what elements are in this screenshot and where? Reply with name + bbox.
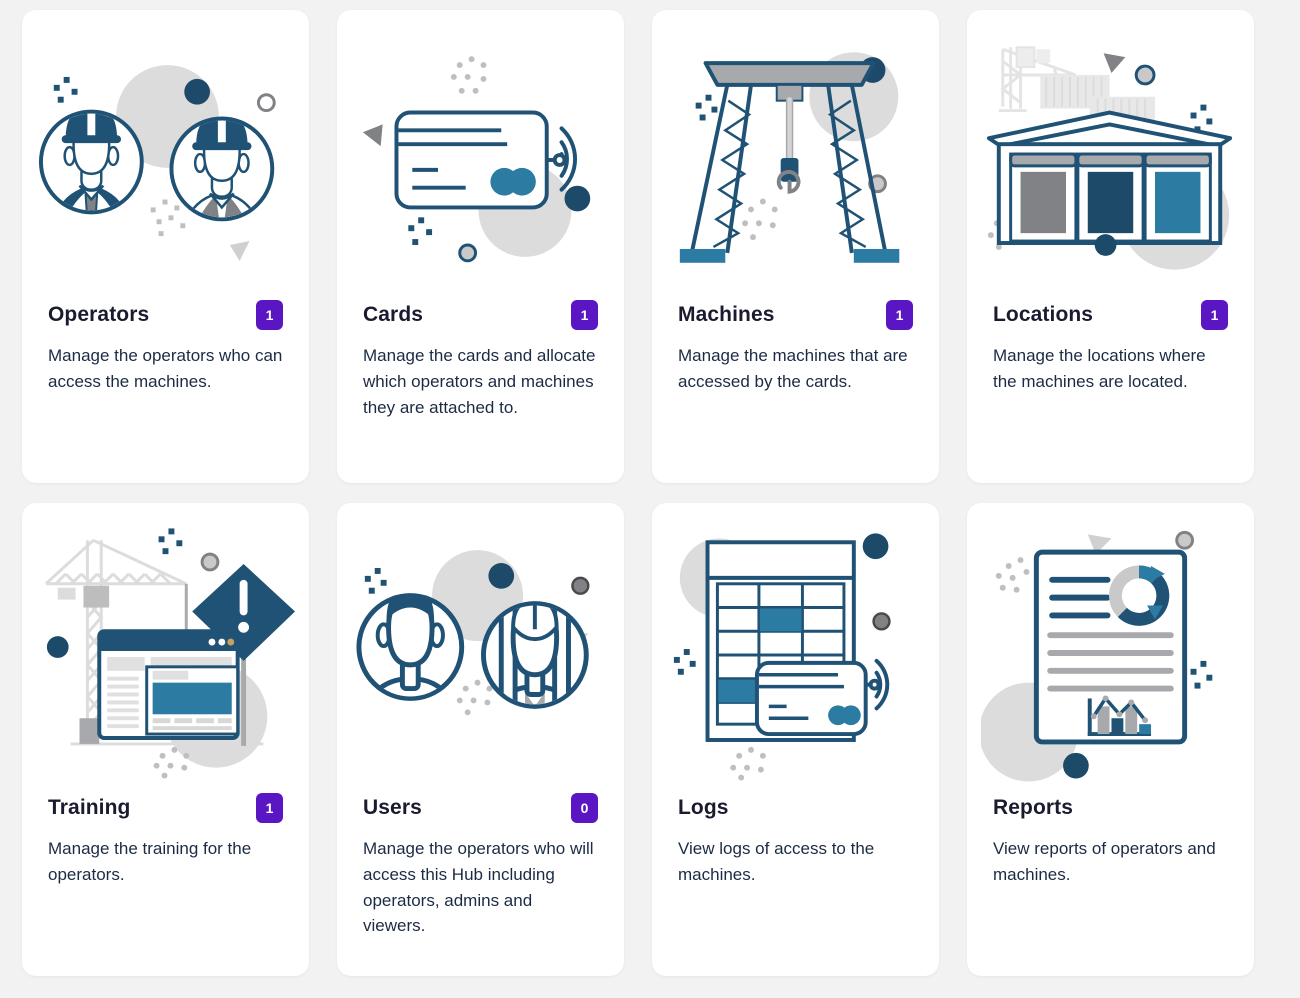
tile-badge: 0 xyxy=(571,793,598,823)
tile-badge: 1 xyxy=(256,793,283,823)
tile-title: Operators xyxy=(48,303,149,327)
tile-users[interactable]: Users 0 Manage the operators who will ac… xyxy=(337,503,624,976)
tile-body-operators: Operators 1 Manage the operators who can… xyxy=(22,300,309,483)
tile-head-training: Training 1 xyxy=(48,793,283,823)
tile-reports[interactable]: Reports View reports of operators and ma… xyxy=(967,503,1254,976)
tile-head-cards: Cards 1 xyxy=(363,300,598,330)
tile-description: View logs of access to the machines. xyxy=(678,836,913,888)
tile-title: Training xyxy=(48,796,130,820)
tile-description: Manage the operators who can access the … xyxy=(48,343,283,395)
illustration-cards xyxy=(337,10,624,300)
illustration-operators xyxy=(22,10,309,300)
tile-badge: 1 xyxy=(1201,300,1228,330)
tile-body-training: Training 1 Manage the training for the o… xyxy=(22,793,309,976)
tile-title: Logs xyxy=(678,796,729,820)
tile-locations[interactable]: Locations 1 Manage the locations where t… xyxy=(967,10,1254,483)
tile-cards[interactable]: Cards 1 Manage the cards and allocate wh… xyxy=(337,10,624,483)
tile-title: Machines xyxy=(678,303,775,327)
illustration-training xyxy=(22,503,309,793)
tile-description: Manage the locations where the machines … xyxy=(993,343,1228,395)
tile-body-users: Users 0 Manage the operators who will ac… xyxy=(337,793,624,976)
illustration-locations xyxy=(967,10,1254,300)
tile-body-logs: Logs View logs of access to the machines… xyxy=(652,793,939,976)
illustration-reports xyxy=(967,503,1254,793)
tile-head-operators: Operators 1 xyxy=(48,300,283,330)
tile-description: Manage the training for the operators. xyxy=(48,836,283,888)
tile-body-reports: Reports View reports of operators and ma… xyxy=(967,793,1254,976)
tile-description: Manage the machines that are accessed by… xyxy=(678,343,913,395)
tile-description: View reports of operators and machines. xyxy=(993,836,1228,888)
tile-body-locations: Locations 1 Manage the locations where t… xyxy=(967,300,1254,483)
tile-badge: 1 xyxy=(256,300,283,330)
tile-body-cards: Cards 1 Manage the cards and allocate wh… xyxy=(337,300,624,483)
illustration-users xyxy=(337,503,624,793)
tile-training[interactable]: Training 1 Manage the training for the o… xyxy=(22,503,309,976)
tile-title: Reports xyxy=(993,796,1073,820)
tile-description: Manage the cards and allocate which oper… xyxy=(363,343,598,420)
tile-badge: 1 xyxy=(886,300,913,330)
tile-badge: 1 xyxy=(571,300,598,330)
tile-title: Cards xyxy=(363,303,423,327)
tile-head-locations: Locations 1 xyxy=(993,300,1228,330)
tile-title: Locations xyxy=(993,303,1093,327)
tile-head-reports: Reports xyxy=(993,793,1228,823)
tile-operators[interactable]: Operators 1 Manage the operators who can… xyxy=(22,10,309,483)
tile-head-logs: Logs xyxy=(678,793,913,823)
tile-description: Manage the operators who will access thi… xyxy=(363,836,598,939)
dashboard-tile-grid: Operators 1 Manage the operators who can… xyxy=(0,0,1300,976)
illustration-machines xyxy=(652,10,939,300)
illustration-logs xyxy=(652,503,939,793)
tile-machines[interactable]: Machines 1 Manage the machines that are … xyxy=(652,10,939,483)
tile-title: Users xyxy=(363,796,422,820)
tile-body-machines: Machines 1 Manage the machines that are … xyxy=(652,300,939,483)
tile-head-users: Users 0 xyxy=(363,793,598,823)
tile-logs[interactable]: Logs View logs of access to the machines… xyxy=(652,503,939,976)
tile-head-machines: Machines 1 xyxy=(678,300,913,330)
